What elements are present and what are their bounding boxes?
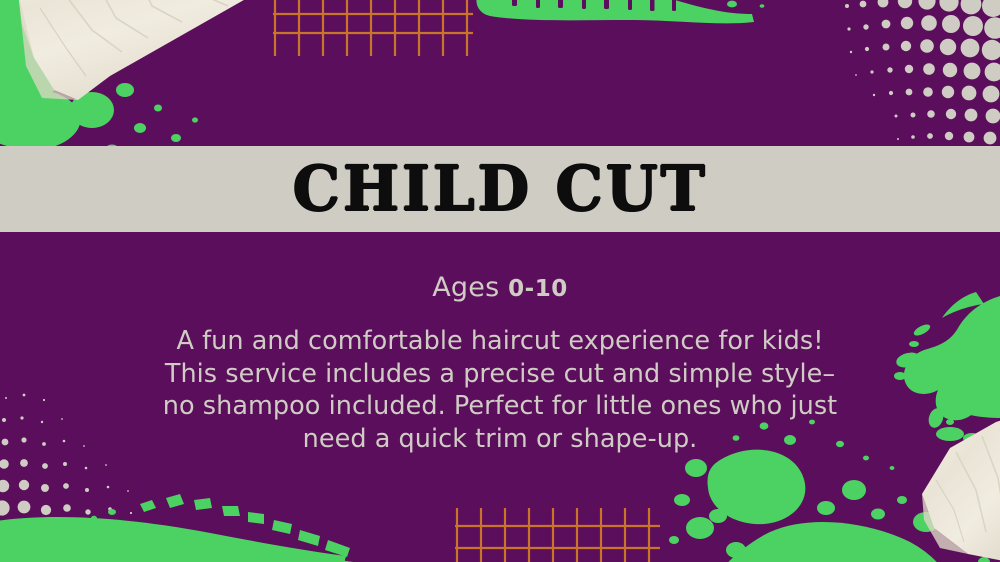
ages-range: 0-10 (508, 276, 568, 302)
green-brush-stroke-bottom-left (0, 478, 370, 562)
description-line-3: need a quick trim or shape-up. (0, 423, 1000, 456)
service-description: A fun and comfortable haircut experience… (0, 325, 1000, 456)
description-line-1: This service includes a precise cut and … (0, 358, 1000, 391)
page-title: CHILD CUT (292, 158, 707, 220)
title-banner: CHILD CUT (0, 146, 1000, 232)
green-brush-stroke-top-center (470, 0, 770, 50)
orange-grid-pattern-bottom (455, 508, 660, 562)
ages-line: Ages 0-10 (0, 272, 1000, 303)
description-line-0: A fun and comfortable haircut experience… (0, 325, 1000, 358)
description-line-2: no shampoo included. Perfect for little … (0, 390, 1000, 423)
copy-block: Ages 0-10 A fun and comfortable haircut … (0, 272, 1000, 456)
ages-label: Ages (432, 272, 499, 303)
service-card: CHILD CUT Ages 0-10 A fun and comfortabl… (0, 0, 1000, 562)
orange-grid-pattern-top (273, 0, 473, 60)
halftone-dot-gradient-top-right (835, 0, 1000, 150)
